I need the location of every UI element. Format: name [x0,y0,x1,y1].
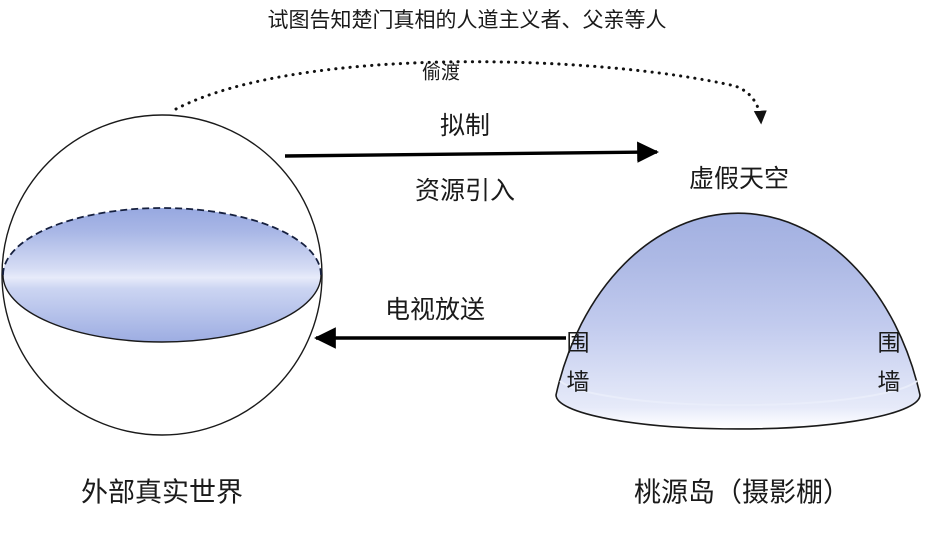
right-node-caption: 桃源岛（摄影棚） [634,478,850,509]
right-node-dome [556,213,920,429]
edge-label-fabricate: 拟制 [440,111,490,140]
dome-sky-label: 虚假天空 [689,164,789,193]
diagram-canvas: 试图告知楚门真相的人道主义者、父亲等人 偷渡 拟制 资源引入 电视放送 虚假天空… [0,0,934,540]
top-note-label: 试图告知楚门真相的人道主义者、父亲等人 [268,8,667,32]
smuggle-label: 偷渡 [422,62,460,84]
wall-left-char-2: 墙 [567,370,590,396]
wall-right-char-1: 围 [878,331,901,357]
edge-label-resource-import: 资源引入 [415,176,515,205]
edge-label-tv-broadcast: 电视放送 [385,295,485,324]
truman-show-diagram: 试图告知楚门真相的人道主义者、父亲等人 偷渡 拟制 资源引入 电视放送 虚假天空… [0,0,934,540]
left-node-caption: 外部真实世界 [81,478,243,509]
wall-left-char-1: 围 [567,331,590,357]
left-node-sphere [2,115,322,435]
wall-right-char-2: 墙 [878,370,901,396]
edge-fabricate-arrow [285,152,657,156]
